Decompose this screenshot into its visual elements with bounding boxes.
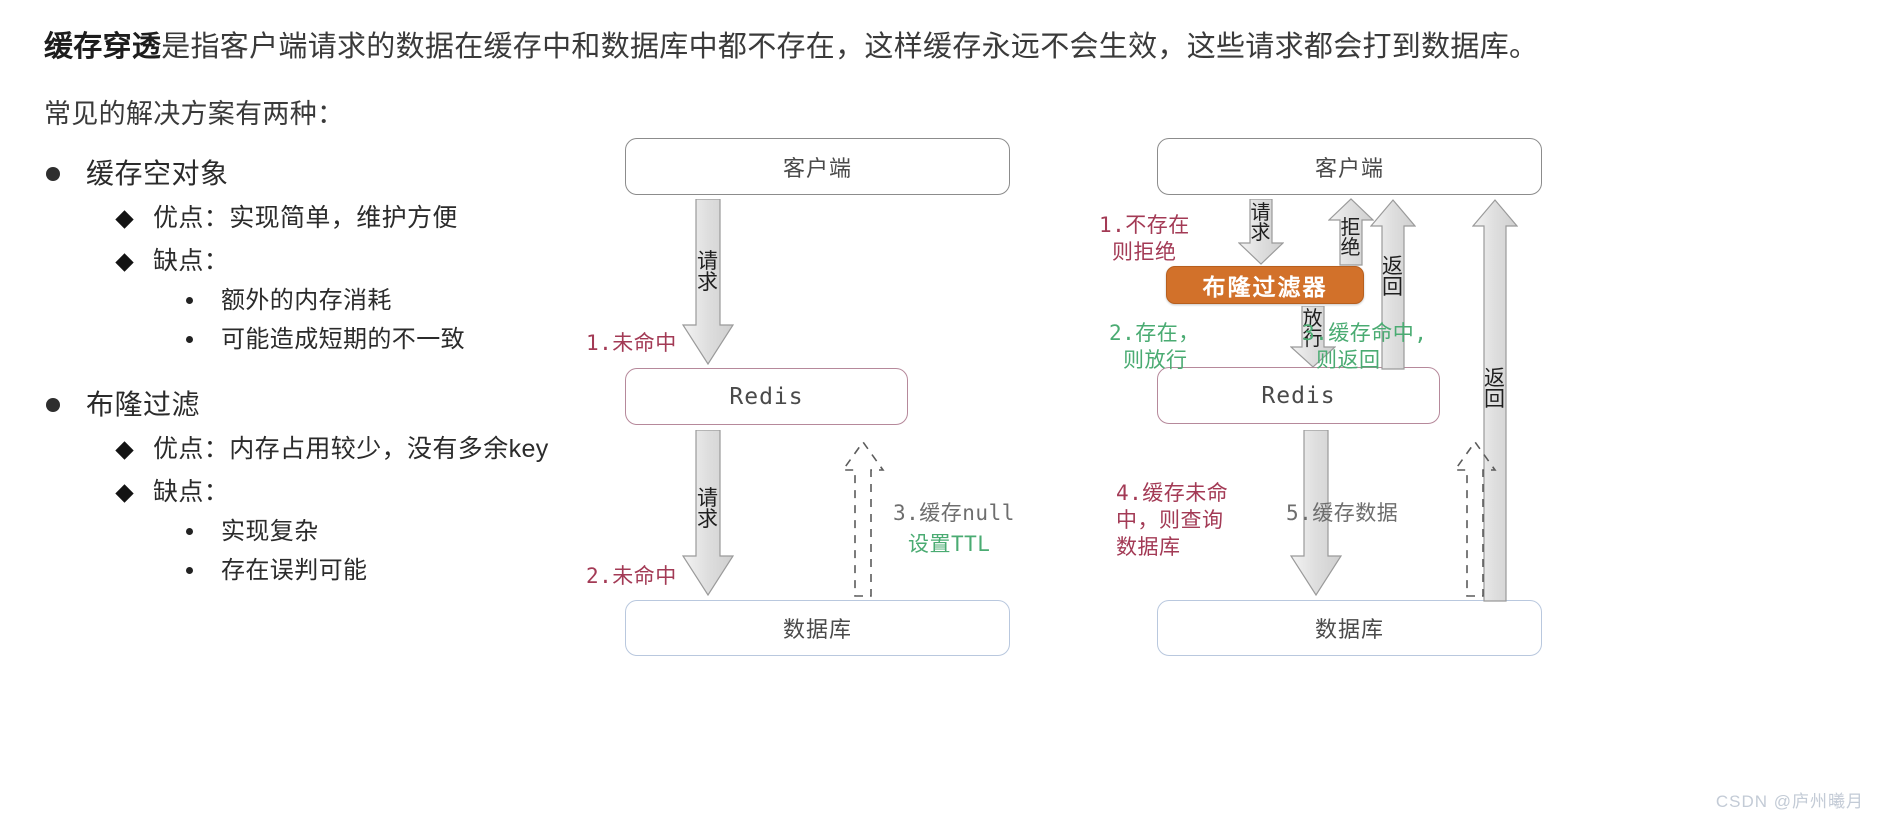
caption-step4-line1: 4.缓存未命: [1116, 480, 1228, 507]
caption-step2: 2.未命中: [586, 563, 677, 590]
arrow-label-return: 返回: [1370, 256, 1416, 298]
caption-step3-line2: 则返回: [1316, 347, 1381, 374]
caption-step3-line1: 3.缓存命中,: [1302, 320, 1427, 347]
arrow-label-request: 请求: [682, 251, 734, 293]
arrow-request-client-to-redis: 请求: [682, 199, 734, 365]
arrow-dashed-cache-null: [838, 438, 888, 598]
arrow-request-client-to-bloom: 请求: [1238, 199, 1284, 265]
arrow-label-return: 返回: [1472, 368, 1518, 410]
watermark: CSDN @庐州曦月: [1716, 787, 1864, 812]
arrow-request-redis-to-db: 请求: [682, 430, 734, 596]
caption-step1: 1.未命中: [586, 330, 677, 357]
caption-step4-line3: 数据库: [1116, 534, 1181, 561]
node-redis: Redis: [1157, 367, 1440, 424]
node-database: 数据库: [1157, 600, 1542, 656]
node-database: 数据库: [625, 600, 1010, 656]
caption-step4-line2: 中，则查询: [1116, 507, 1224, 534]
node-client: 客户端: [1157, 138, 1542, 195]
diagram-bloom-filter: 客户端 布隆过滤器 Redis 数据库 请求 拒绝: [1090, 0, 1892, 828]
caption-step3-line1: 3.缓存null: [893, 500, 1015, 527]
arrow-reject-bloom-to-client: 拒绝: [1328, 198, 1374, 266]
caption-step5: 5.缓存数据: [1286, 500, 1398, 527]
arrow-dashed-cache-data: [1450, 438, 1500, 598]
caption-step1-line2: 则拒绝: [1112, 239, 1177, 266]
diagram-cache-null: 客户端 Redis 数据库 请求 请求 1.未命中 2.未命: [0, 0, 1090, 828]
arrow-label-request: 请求: [682, 488, 734, 530]
node-bloom-filter: 布隆过滤器: [1166, 266, 1364, 304]
caption-step2-line1: 2.存在，: [1109, 320, 1200, 347]
caption-step1-line1: 1.不存在: [1099, 212, 1190, 239]
caption-step2-line2: 则放行: [1123, 347, 1188, 374]
node-client: 客户端: [625, 138, 1010, 195]
node-redis: Redis: [625, 368, 908, 425]
arrow-label-reject: 拒绝: [1328, 218, 1374, 258]
arrow-label-request: 请求: [1238, 203, 1284, 243]
caption-step3-line2: 设置TTL: [908, 531, 990, 558]
